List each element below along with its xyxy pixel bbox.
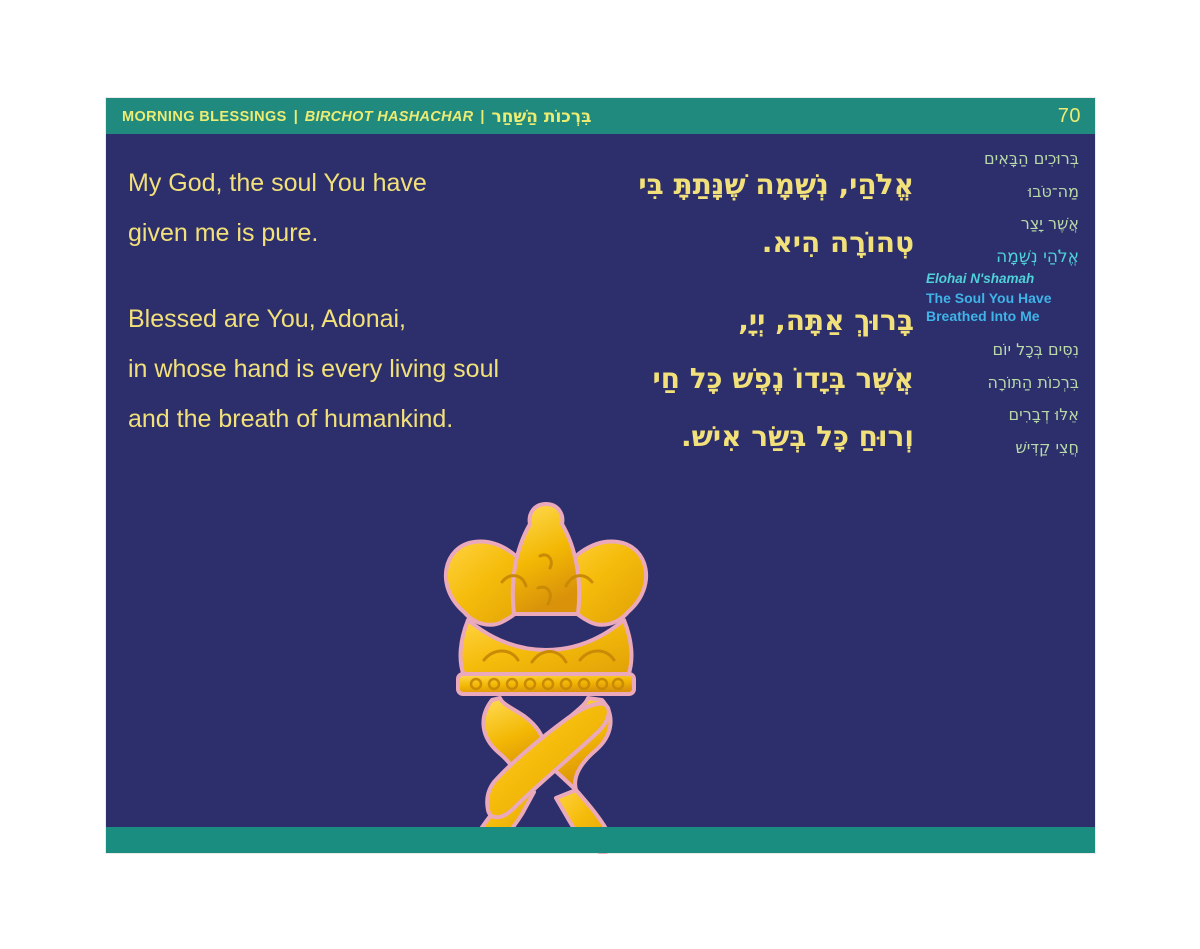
sidebar-item-mah-tovu[interactable]: מַה־טֹּבוּ [926, 181, 1079, 203]
page-number: 70 [1058, 105, 1081, 128]
english-column: My God, the soul You have given me is pu… [128, 156, 603, 258]
hebrew-column: בָּרוּךְ אַתָּה, יְיָ, אֲשֶׁר בְּיָדוֹ נ… [603, 292, 918, 466]
header-hebrew-title: בִּרְכוֹת הַשַּׁחַר [491, 107, 591, 127]
english-line: and the breath of humankind. [128, 394, 603, 444]
english-line: in whose hand is every living soul [128, 344, 603, 394]
sidebar-item-hebrew-label: בִּרְכוֹת הַתּוֹרָה [926, 372, 1079, 394]
prayer-stanza: My God, the soul You have given me is pu… [128, 156, 918, 272]
sidebar-item-nisim-bchol-yom[interactable]: נִסִּים בְּכָל יוֹם [926, 339, 1079, 361]
hebrew-line: בָּרוּךְ אַתָּה, יְיָ, [603, 292, 914, 350]
sidebar-item-english-line-2: Breathed Into Me [926, 308, 1079, 326]
page-header-bar: MORNING BLESSINGS | BIRCHOT HASHACHAR | … [106, 98, 1095, 134]
siddur-page: MORNING BLESSINGS | BIRCHOT HASHACHAR | … [106, 98, 1095, 853]
sidebar-item-english-label: The Soul You Have Breathed Into Me [926, 290, 1079, 326]
section-nav-sidebar: בְּרוּכִים הַבָּאִים מַה־טֹּבוּ אֲשֶׁר י… [918, 134, 1095, 827]
english-column: Blessed are You, Adonai, in whose hand i… [128, 292, 603, 444]
hebrew-column: אֱלֹהַי, נְשָׁמָה שֶׁנָּתַתָּ בִּי טְהוֹ… [603, 156, 918, 272]
sidebar-item-hebrew-label: חֲצִי קַדִּישׁ [926, 437, 1079, 459]
header-english-title: MORNING BLESSINGS [122, 109, 287, 125]
header-transliteration: BIRCHOT HASHACHAR [305, 109, 474, 125]
hebrew-line: טְהוֹרָה הִיא. [603, 214, 914, 272]
sidebar-item-chatzi-kaddish[interactable]: חֲצִי קַדִּישׁ [926, 437, 1079, 459]
sidebar-item-hebrew-label: בְּרוּכִים הַבָּאִים [926, 148, 1079, 170]
english-line: given me is pure. [128, 208, 603, 258]
hebrew-line: אֲשֶׁר בְּיָדוֹ נֶפֶשׁ כָּל חַי [603, 350, 914, 408]
prayer-stanza: Blessed are You, Adonai, in whose hand i… [128, 292, 918, 466]
sidebar-item-hebrew-label: אֲשֶׁר יָצַר [926, 213, 1079, 235]
sidebar-item-eilu-dvarim[interactable]: אֵלּוּ דְבָרִים [926, 404, 1079, 426]
hebrew-line: וְרוּחַ כָּל בְּשַׂר אִישׁ. [603, 408, 914, 466]
header-separator-1: | [287, 109, 305, 125]
header-title-group: MORNING BLESSINGS | BIRCHOT HASHACHAR | … [122, 106, 1058, 126]
sidebar-item-bruchim-habaim[interactable]: בְּרוּכִים הַבָּאִים [926, 148, 1079, 170]
sidebar-item-asher-yatzar[interactable]: אֲשֶׁר יָצַר [926, 213, 1079, 235]
crowned-aleph-artwork [406, 464, 686, 854]
sidebar-item-transliteration: Elohai N'shamah [926, 270, 1079, 288]
sidebar-item-hebrew-label: נִסִּים בְּכָל יוֹם [926, 339, 1079, 361]
prayer-text-block: My God, the soul You have given me is pu… [128, 156, 918, 466]
prayer-content-area: My God, the soul You have given me is pu… [106, 134, 918, 827]
sidebar-item-hebrew-label: אֱלֹהַי נְשָׁמָה [926, 246, 1079, 269]
sidebar-item-hebrew-label: אֵלּוּ דְבָרִים [926, 404, 1079, 426]
sidebar-item-elohai-nshamah[interactable]: אֱלֹהַי נְשָׁמָה Elohai N'shamah The Sou… [926, 246, 1079, 326]
hebrew-line: אֱלֹהַי, נְשָׁמָה שֶׁנָּתַתָּ בִּי [603, 156, 914, 214]
sidebar-item-hebrew-label: מַה־טֹּבוּ [926, 181, 1079, 203]
page-body: My God, the soul You have given me is pu… [106, 134, 1095, 827]
page-footer-bar [106, 827, 1095, 853]
header-separator-2: | [473, 109, 491, 125]
sidebar-item-english-line-1: The Soul You Have [926, 290, 1079, 308]
english-line: My God, the soul You have [128, 158, 603, 208]
sidebar-item-birchot-hatorah[interactable]: בִּרְכוֹת הַתּוֹרָה [926, 372, 1079, 394]
english-line: Blessed are You, Adonai, [128, 294, 603, 344]
